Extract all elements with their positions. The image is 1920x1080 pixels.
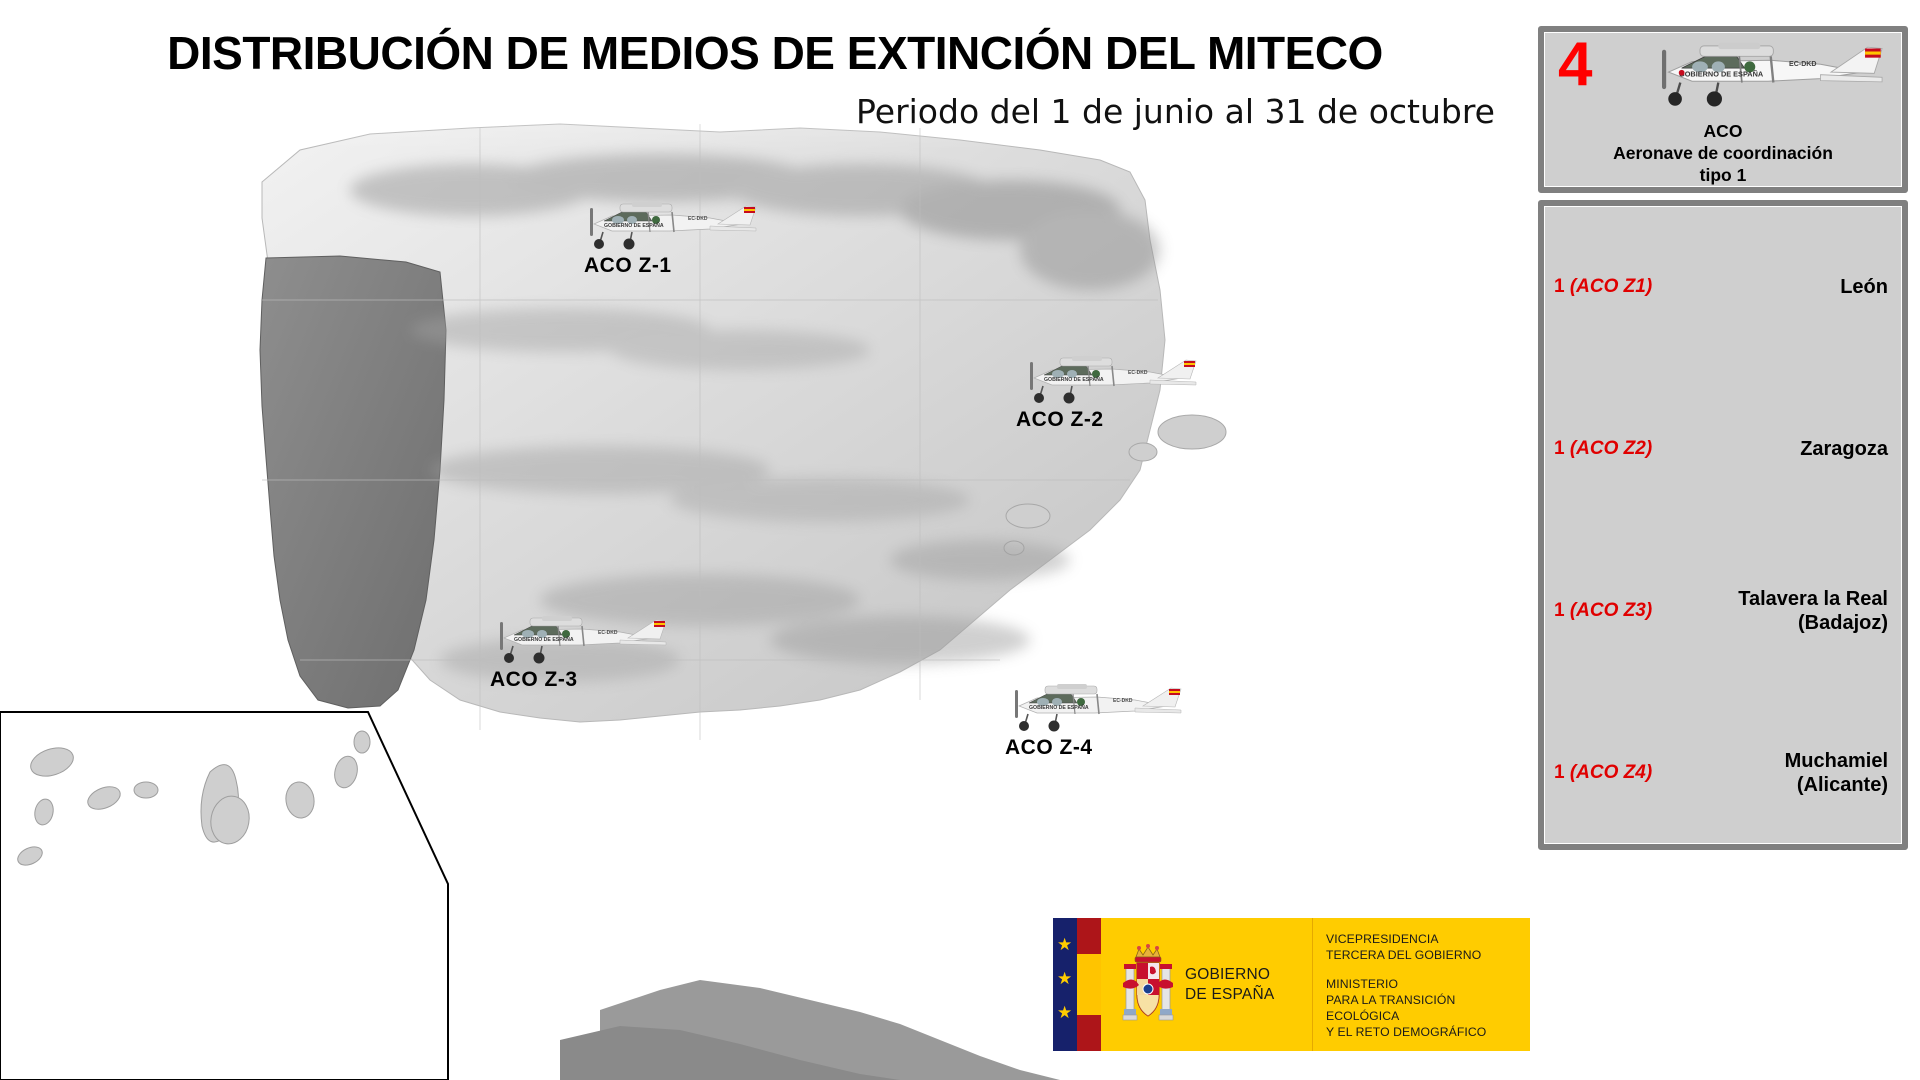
dept-line-5: Y EL RETO DEMOGRÁFICO	[1326, 1024, 1530, 1040]
map-marker-label: ACO Z-1	[560, 254, 770, 278]
svg-text:EC-DKD: EC-DKD	[1789, 61, 1816, 68]
svg-text:EC-DKD: EC-DKD	[688, 216, 708, 222]
dept-line-2: TERCERA DEL GOBIERNO	[1326, 947, 1530, 963]
legend-caption: ACO Aeronave de coordinación tipo 1	[1544, 120, 1902, 187]
poster-root: DISTRIBUCIÓN DE MEDIOS DE EXTINCIÓN DEL …	[0, 0, 1920, 1080]
deployment-row: 1 (ACO Z4) Muchamiel(Alicante)	[1544, 692, 1902, 854]
deployment-unit-code: (ACO Z4)	[1570, 762, 1652, 783]
svg-text:GOBIERNO DE ESPAÑA: GOBIERNO DE ESPAÑA	[1044, 376, 1104, 383]
svg-text:EC-DKD: EC-DKD	[1113, 698, 1133, 704]
map-marker-aco-z2[interactable]: GOBIERNO DE ESPAÑA EC-DKD ACO Z-2	[1000, 352, 1210, 432]
deployment-unit-code: (ACO Z2)	[1570, 438, 1652, 459]
deployment-row: 1 (ACO Z1) León	[1544, 206, 1902, 368]
map-marker-label: ACO Z-3	[470, 668, 680, 692]
flag-bar: ★ ★ ★	[1053, 918, 1101, 1051]
deployment-quantity: 1	[1554, 276, 1565, 297]
eu-star-icon: ★	[1057, 970, 1072, 987]
deployment-row: 1 (ACO Z2) Zaragoza	[1544, 368, 1902, 530]
gov-brand-line1: GOBIERNO	[1185, 965, 1274, 985]
gov-brand-text: GOBIERNO DE ESPAÑA	[1185, 965, 1274, 1005]
svg-text:GOBIERNO DE ESPAÑA: GOBIERNO DE ESPAÑA	[1679, 69, 1764, 78]
deployment-location: Zaragoza	[1800, 437, 1888, 461]
legend-panel: 4	[1538, 26, 1908, 193]
eu-flag-strip: ★ ★ ★	[1053, 918, 1077, 1051]
aircraft-icon: GOBIERNO DE ESPAÑA EC-DKD	[560, 198, 760, 256]
eu-star-icon: ★	[1057, 936, 1072, 953]
deployment-code: 1 (ACO Z2)	[1554, 438, 1652, 460]
deployment-code: 1 (ACO Z3)	[1554, 600, 1652, 622]
dept-line-4: PARA LA TRANSICIÓN ECOLÓGICA	[1326, 992, 1530, 1024]
deployment-unit-code: (ACO Z1)	[1570, 276, 1652, 297]
svg-text:GOBIERNO DE ESPAÑA: GOBIERNO DE ESPAÑA	[1029, 704, 1089, 711]
aircraft-icon: GOBIERNO DE ESPAÑA EC-DKD	[1624, 36, 1886, 116]
deployment-code: 1 (ACO Z4)	[1554, 762, 1652, 784]
eu-star-icon: ★	[1057, 1004, 1072, 1021]
deployment-unit-code: (ACO Z3)	[1570, 600, 1652, 621]
gov-department-text: VICEPRESIDENCIA TERCERA DEL GOBIERNO MIN…	[1313, 918, 1530, 1051]
canary-islands-inset	[0, 712, 448, 1080]
coat-of-arms-icon	[1119, 939, 1177, 1031]
svg-text:EC-DKD: EC-DKD	[598, 630, 618, 636]
deployment-quantity: 1	[1554, 600, 1565, 621]
deployment-quantity: 1	[1554, 762, 1565, 783]
aircraft-icon: GOBIERNO DE ESPAÑA EC-DKD	[470, 612, 670, 670]
top-fade	[0, 0, 1545, 150]
deployment-location: Muchamiel(Alicante)	[1785, 749, 1888, 798]
gobierno-de-espana-logo: ★ ★ ★	[1053, 918, 1530, 1051]
legend-top-row: 4	[1544, 32, 1902, 124]
legend-count: 4	[1558, 34, 1592, 96]
map-marker-aco-z4[interactable]: GOBIERNO DE ESPAÑA EC-DKD ACO Z-4	[985, 680, 1195, 760]
legend-description-line1: Aeronave de coordinación	[1544, 142, 1902, 164]
deployment-code: 1 (ACO Z1)	[1554, 276, 1652, 298]
deployment-location: Talavera la Real(Badajoz)	[1738, 587, 1888, 636]
deployment-quantity: 1	[1554, 438, 1565, 459]
legend-description-line2: tipo 1	[1544, 164, 1902, 186]
map-marker-aco-z3[interactable]: GOBIERNO DE ESPAÑA EC-DKD ACO Z-3	[470, 612, 680, 692]
map-marker-label: ACO Z-2	[1000, 408, 1210, 432]
aircraft-icon: GOBIERNO DE ESPAÑA EC-DKD	[1000, 352, 1200, 410]
dept-line-3: MINISTERIO	[1326, 976, 1530, 992]
deployment-row: 1 (ACO Z3) Talavera la Real(Badajoz)	[1544, 530, 1902, 692]
gov-brand-line2: DE ESPAÑA	[1185, 985, 1274, 1005]
deployment-list-panel: 1 (ACO Z1) León 1 (ACO Z2) Zaragoza 1 (A…	[1538, 200, 1908, 850]
svg-text:GOBIERNO DE ESPAÑA: GOBIERNO DE ESPAÑA	[514, 636, 574, 643]
deployment-location: León	[1840, 275, 1888, 299]
legend-acronym: ACO	[1544, 120, 1902, 142]
svg-text:EC-DKD: EC-DKD	[1128, 370, 1148, 376]
north-africa-strip	[560, 980, 1060, 1080]
spain-flag-strip	[1077, 918, 1101, 1051]
map-marker-aco-z1[interactable]: GOBIERNO DE ESPAÑA EC-DKD ACO Z-1	[560, 198, 770, 278]
aircraft-icon: GOBIERNO DE ESPAÑA EC-DKD	[985, 680, 1185, 738]
svg-text:GOBIERNO DE ESPAÑA: GOBIERNO DE ESPAÑA	[604, 222, 664, 229]
gov-brand: GOBIERNO DE ESPAÑA	[1101, 918, 1313, 1051]
dept-line-1: VICEPRESIDENCIA	[1326, 931, 1530, 947]
map-marker-label: ACO Z-4	[985, 736, 1195, 760]
